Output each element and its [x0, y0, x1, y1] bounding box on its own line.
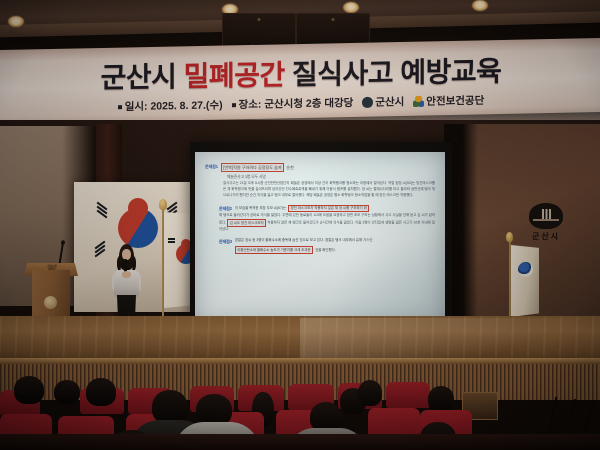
banner-place: 장소: 군산시청 2층 대강당 [232, 95, 354, 112]
banner-org-kosha: 안전보건공단 [413, 93, 484, 109]
audience-head [428, 386, 454, 412]
problem1-highlight: [반복]직원 구하려다 공장장도 숨져 [221, 163, 284, 172]
banner-title-part2: 밀폐공간 [184, 59, 285, 92]
problem3-before: 경찰은 장씨 등 3명이 황화수소에 중독돼 숨진 것으로 보고 있다. 경찰은… [235, 238, 373, 244]
slide-problem-1: 문제점1 [반복]직원 구하려다 공장장도 숨져 순천 [205, 163, 435, 172]
organization-flag [511, 245, 539, 317]
flag-pole [162, 206, 164, 328]
flag-pole-finial [159, 199, 167, 210]
podium-seal-icon [44, 296, 57, 309]
problem1-after: 순천 [286, 164, 294, 171]
problem2-middle: 해 탱크로 들어갔다가 곧바로 의식을 잃었다. 주변에 있던 동료들이 119… [219, 213, 435, 232]
problem3-tag: 문제점3 [219, 238, 232, 245]
problem2-highlight-1: 방진 마스크조차 착용하지 않은 채 장 씨를 구조하기 위 [288, 205, 369, 213]
ceiling-light-icon [472, 0, 488, 11]
banner-org1-label: 군산시 [375, 96, 404, 109]
trigram-bar [168, 241, 175, 243]
banner-title-part1: 군산시 [101, 61, 177, 93]
problem1-subtitle: 페놀존사고 3명 모두 사망 [227, 174, 435, 181]
problem3-heading: 경찰은 장씨 등 3명이 황화수소에 중독돼 숨진 것으로 보고 있다. 경찰은… [235, 238, 435, 253]
problem2-before: 이 모습을 목격한 부장 우모 씨(57)는 [235, 206, 286, 212]
auditorium-seat [386, 382, 430, 408]
banner-place-value: 군산시청 2층 대강당 [264, 97, 353, 111]
problem3-after: 것을 확인했다. [315, 248, 336, 254]
presenter-hands [122, 271, 131, 278]
gunsan-city-mark-icon [529, 203, 563, 229]
trigram-bar [168, 238, 175, 240]
banner-date-value: 2025. 8. 27.(수) [150, 99, 222, 112]
flag-pole-finial [506, 232, 513, 242]
problem1-tag: 문제점1 [205, 163, 218, 170]
ceiling-light-icon [8, 16, 24, 27]
audience-head [86, 378, 116, 406]
screenshot-root: 군산시 밀폐공간 질식사고 예방교육 일시: 2025. 8. 27.(수) 장… [0, 0, 600, 450]
audience-head [152, 390, 188, 424]
banner-date: 일시: 2025. 8. 27.(수) [118, 97, 223, 114]
banner-date-label: 일시: [125, 101, 148, 113]
slide-content: 문제점1 [반복]직원 구하려다 공장장도 숨져 순천 페놀존사고 3명 모두 … [195, 152, 445, 325]
ceiling-light-icon [343, 2, 359, 13]
problem2-highlight-2: 김 씨도 방진 마스크조차 [227, 219, 266, 227]
slide-problem-2: 문제점2 이 모습을 목격한 부장 우모 씨(57)는 방진 마스크조차 착용하… [219, 205, 435, 213]
kosha-logo-icon [413, 96, 424, 107]
gunsan-logo-icon [362, 97, 373, 108]
organization-flag-emblem-icon [518, 262, 533, 277]
audience-head [14, 376, 44, 404]
banner-place-label: 장소: [239, 99, 262, 111]
banner-subtitle: 일시: 2025. 8. 27.(수) 장소: 군산시청 2층 대강당 군산시 … [118, 93, 485, 114]
audience-head [358, 380, 382, 406]
wall-city-emblem: 군산시 [523, 203, 569, 245]
bullet-square-icon [232, 103, 236, 107]
problem2-tag: 문제점2 [219, 205, 232, 212]
wall-city-emblem-label: 군산시 [532, 231, 560, 242]
foreground-shadow [0, 434, 600, 450]
problem1-body: 질식사고는 21일 오후 5시쯤 순천만만산업단지 페놀존 공장에서 지상 간이… [223, 181, 435, 199]
projection-screen: 문제점1 [반복]직원 구하려다 공장장도 숨져 순천 페놀존사고 3명 모두 … [195, 152, 445, 325]
slide-problem-3: 문제점3 경찰은 장씨 등 3명이 황화수소에 중독돼 숨진 것으로 보고 있다… [219, 238, 435, 253]
banner-org2-label: 안전보건공단 [426, 95, 484, 108]
banner-org-gunsan: 군산시 [362, 94, 404, 110]
problem2-heading: 이 모습을 목격한 부장 우모 씨(57)는 방진 마스크조차 착용하지 않은 … [235, 205, 369, 213]
stage-floor-reflection [300, 318, 600, 360]
problem3-highlight: 아황산탄소와 황화수소 농도가 기준치를 크게 초과한 [235, 246, 313, 254]
banner-title: 군산시 밀폐공간 질식사고 예방교육 [101, 58, 502, 93]
banner-title-part4: 예방교육 [400, 56, 501, 89]
bullet-square-icon [118, 105, 122, 109]
problem1-heading: [반복]직원 구하려다 공장장도 숨져 순천 [221, 163, 294, 172]
audience-head [54, 380, 80, 404]
banner-title-part3: 질식사고 [292, 57, 393, 90]
taegeuk-symbol-icon [118, 208, 158, 248]
